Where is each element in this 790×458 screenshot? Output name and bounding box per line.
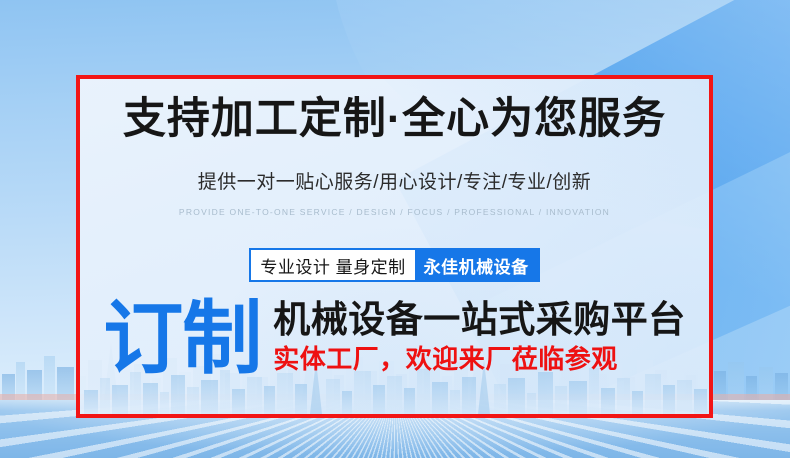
factory-visit-message: 实体工厂，欢迎来厂莅临参观 [273,346,686,373]
badge-service-label: 专业设计 量身定制 [251,250,414,280]
platform-headline: 机械设备一站式采购平台 [273,301,686,340]
subtitle: 提供一对一贴心服务/用心设计/专注/专业/创新 [80,173,709,192]
page-title: 支持加工定制·全心为您服务 [80,98,709,141]
lower-text-group: 机械设备一站式采购平台 实体工厂，欢迎来厂莅临参观 [273,297,686,373]
badge-row: 专业设计 量身定制 永佳机械设备 [80,248,709,282]
wordmark-custom: 订制 [103,301,261,376]
english-tagline: PROVIDE ONE-TO-ONE SERVICE / DESIGN / FO… [80,208,709,217]
content-panel: 支持加工定制·全心为您服务 提供一对一贴心服务/用心设计/专注/专业/创新 PR… [76,75,713,418]
badge-brand-label: 永佳机械设备 [415,250,538,280]
brand-badge: 专业设计 量身定制 永佳机械设备 [249,248,539,282]
promotional-banner: 支持加工定制·全心为您服务 提供一对一贴心服务/用心设计/专注/专业/创新 PR… [0,0,790,458]
lower-message-block: 订制 机械设备一站式采购平台 实体工厂，欢迎来厂莅临参观 [80,297,709,407]
